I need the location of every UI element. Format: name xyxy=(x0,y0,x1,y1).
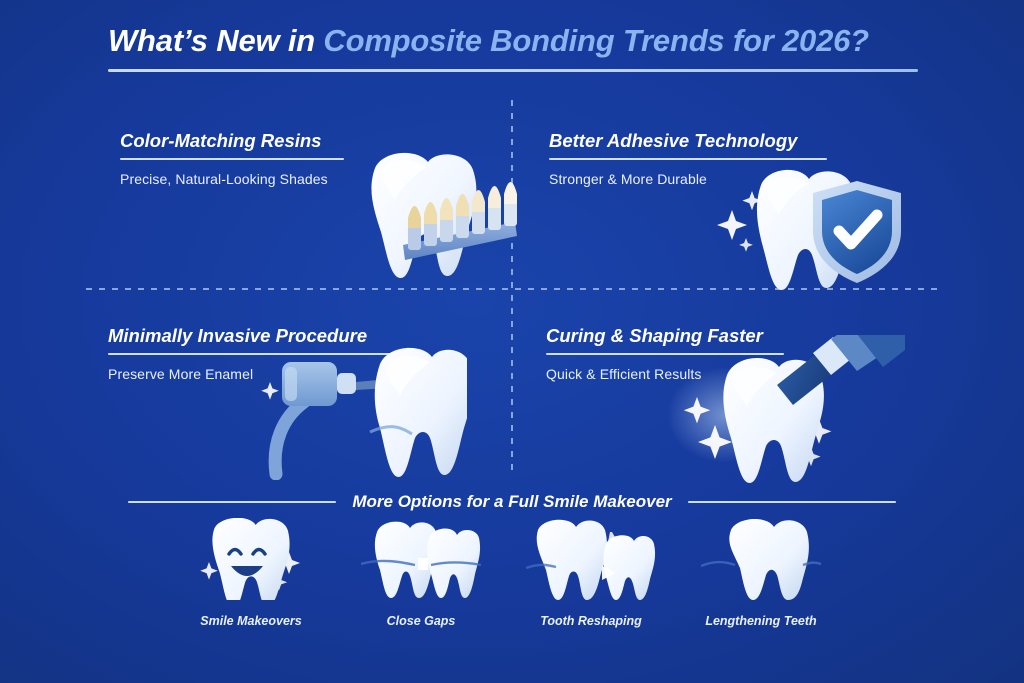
two-teeth-gap-icon xyxy=(361,518,481,600)
smiling-tooth-icon xyxy=(191,518,311,600)
gap-marker xyxy=(418,558,428,570)
tooth-reshaping-arrow-icon xyxy=(526,518,656,600)
handpiece-hose xyxy=(275,402,304,474)
bottom-item-label: Close Gaps xyxy=(387,614,456,628)
title-white-part: What’s New in xyxy=(108,23,323,58)
tooth-with-shield-check-icon xyxy=(705,155,905,295)
quadrant-top-left-text: Color-Matching Resins Precise, Natural-L… xyxy=(120,131,344,187)
title-underline xyxy=(108,69,918,72)
bottom-item-tooth-reshaping: Tooth Reshaping xyxy=(516,518,666,628)
infographic-canvas: What’s New in Composite Bonding Trends f… xyxy=(0,0,1024,683)
divider-line-left xyxy=(128,501,336,503)
tooth-with-curing-light-icon xyxy=(665,335,905,485)
bottom-item-label: Lengthening Teeth xyxy=(705,614,816,628)
bottom-items-row: Smile Makeovers xyxy=(176,518,836,628)
curing-light-wand xyxy=(777,335,905,405)
quadrant-heading: Better Adhesive Technology xyxy=(549,131,827,151)
bottom-item-smile-makeovers: Smile Makeovers xyxy=(176,518,326,628)
divider-line-right xyxy=(688,501,896,503)
tooth-with-shade-guide-icon xyxy=(345,140,525,290)
quadrant-heading: Color-Matching Resins xyxy=(120,131,344,151)
sparkle-icon xyxy=(261,382,279,400)
quadrant-heading-underline xyxy=(120,158,344,160)
section-divider: More Options for a Full Smile Makeover xyxy=(128,492,896,512)
bottom-item-close-gaps: Close Gaps xyxy=(346,518,496,628)
title-accent-part: Composite Bonding Trends for 2026? xyxy=(323,23,869,58)
bottom-item-lengthening-teeth: Lengthening Teeth xyxy=(686,518,836,628)
page-title: What’s New in Composite Bonding Trends f… xyxy=(108,24,918,59)
sparkle-group xyxy=(717,191,762,252)
section-divider-label: More Options for a Full Smile Makeover xyxy=(352,492,671,512)
single-tooth-icon xyxy=(701,518,821,600)
quadrant-subtitle: Precise, Natural-Looking Shades xyxy=(120,171,344,187)
header: What’s New in Composite Bonding Trends f… xyxy=(108,24,918,72)
bottom-item-label: Smile Makeovers xyxy=(200,614,301,628)
bottom-item-label: Tooth Reshaping xyxy=(540,614,642,628)
tooth-with-dental-handpiece-icon xyxy=(252,340,467,480)
